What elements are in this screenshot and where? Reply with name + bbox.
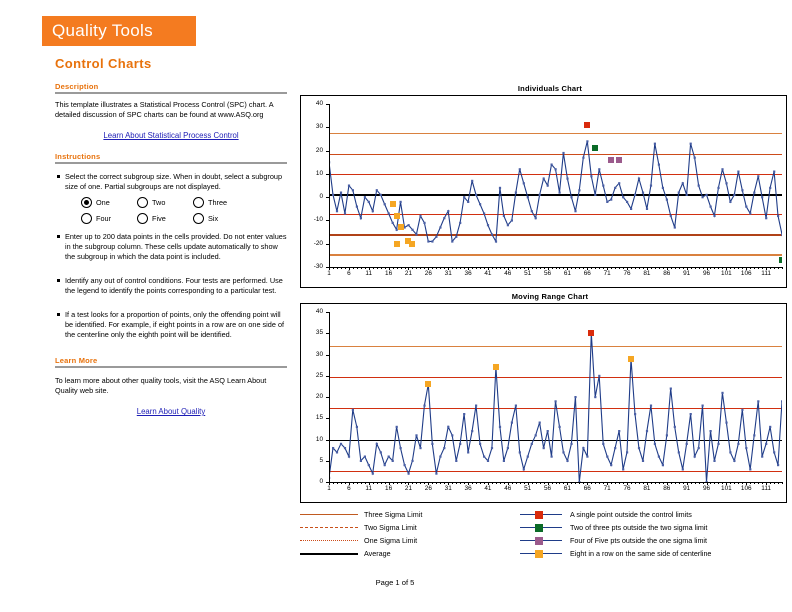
x-tick-mark bbox=[754, 482, 755, 484]
radio-label-five: Five bbox=[152, 214, 166, 223]
radio-icon-five[interactable] bbox=[137, 213, 148, 224]
individuals-chart-title: Individuals Chart bbox=[400, 84, 700, 93]
radio-icon-six[interactable] bbox=[193, 213, 204, 224]
x-tick-mark bbox=[424, 482, 425, 484]
x-tick-mark bbox=[683, 482, 684, 484]
y-tick-label: -10 bbox=[301, 217, 323, 223]
radio-label-four: Four bbox=[96, 214, 111, 223]
x-tick-label: 21 bbox=[398, 486, 418, 492]
description-heading: Description bbox=[55, 82, 287, 91]
instruction-bullet-1: Select the correct subgroup size. When i… bbox=[55, 172, 287, 192]
legend-line-label: Average bbox=[358, 549, 391, 558]
legend-test-label: A single point outside the control limit… bbox=[564, 510, 692, 519]
instruction-text-3: Identify any out of control conditions. … bbox=[65, 276, 287, 296]
legend-test-swatch bbox=[518, 534, 564, 547]
x-tick-mark bbox=[770, 267, 771, 269]
x-tick-label: 71 bbox=[597, 271, 617, 277]
x-tick-mark bbox=[532, 267, 533, 269]
x-tick-mark bbox=[603, 267, 604, 269]
x-tick-mark bbox=[679, 267, 680, 269]
instruction-text-1: Select the correct subgroup size. When i… bbox=[65, 172, 287, 192]
learn-more-body: To learn more about other quality tools,… bbox=[55, 376, 287, 396]
x-tick-mark bbox=[611, 267, 612, 269]
radio-icon-one[interactable] bbox=[81, 197, 92, 208]
y-tick-mark bbox=[326, 376, 329, 377]
x-tick-mark bbox=[778, 482, 779, 484]
x-tick-mark bbox=[333, 267, 334, 269]
legend-test-label: Eight in a row on the same side of cente… bbox=[564, 549, 711, 558]
x-tick-label: 6 bbox=[339, 486, 359, 492]
x-tick-mark bbox=[643, 267, 644, 269]
legend-line-swatch bbox=[300, 521, 358, 534]
bullet-marker-icon bbox=[55, 310, 65, 340]
x-tick-mark bbox=[420, 482, 421, 484]
x-tick-mark bbox=[524, 482, 525, 484]
y-tick-label: 20 bbox=[301, 394, 323, 400]
y-tick-mark bbox=[326, 174, 329, 175]
legend-test-label: Four of Five pts outside the one sigma l… bbox=[564, 536, 707, 545]
x-tick-mark bbox=[456, 482, 457, 484]
legend-line-swatch bbox=[300, 547, 358, 560]
x-tick-mark bbox=[496, 267, 497, 269]
x-tick-label: 26 bbox=[418, 486, 438, 492]
y-tick-label: 30 bbox=[301, 352, 323, 358]
legend-test-row: Two of three pts outside the two sigma l… bbox=[518, 521, 786, 534]
x-tick-mark bbox=[703, 267, 704, 269]
x-tick-mark bbox=[714, 482, 715, 484]
y-tick-mark bbox=[326, 440, 329, 441]
subgroup-row-1: One Two Three bbox=[81, 197, 287, 208]
legend-test-markers: A single point outside the control limit… bbox=[518, 508, 786, 560]
legend-line-row: One Sigma Limit bbox=[300, 534, 510, 547]
y-tick-mark bbox=[326, 333, 329, 334]
radio-label-one: One bbox=[96, 198, 110, 207]
x-tick-mark bbox=[639, 482, 640, 484]
x-tick-label: 56 bbox=[538, 271, 558, 277]
x-tick-mark bbox=[663, 267, 664, 269]
y-tick-label: -20 bbox=[301, 241, 323, 247]
y-tick-label: -30 bbox=[301, 264, 323, 270]
brand-label: Quality Tools bbox=[52, 21, 153, 41]
moving-range-chart: 0510152025303540161116212631364146515661… bbox=[300, 303, 787, 503]
bullet-marker-icon bbox=[55, 172, 65, 192]
learn-about-quality-link[interactable]: Learn About Quality bbox=[55, 407, 287, 416]
x-tick-mark bbox=[599, 482, 600, 484]
x-tick-mark bbox=[722, 267, 723, 269]
flagged-point-marker bbox=[425, 381, 431, 387]
y-tick-label: 15 bbox=[301, 415, 323, 421]
x-tick-mark bbox=[337, 482, 338, 484]
x-tick-mark bbox=[774, 267, 775, 269]
flagged-point-marker bbox=[779, 257, 782, 263]
page-title: Control Charts bbox=[55, 56, 152, 71]
x-tick-mark bbox=[492, 267, 493, 269]
radio-label-three: Three bbox=[208, 198, 227, 207]
x-tick-mark bbox=[365, 482, 366, 484]
legend-line-swatch bbox=[300, 508, 358, 521]
x-tick-mark bbox=[401, 267, 402, 269]
y-tick-mark bbox=[326, 127, 329, 128]
x-tick-mark bbox=[659, 267, 660, 269]
x-tick-mark bbox=[623, 267, 624, 269]
x-tick-mark bbox=[393, 482, 394, 484]
x-tick-mark bbox=[540, 482, 541, 484]
x-tick-label: 46 bbox=[498, 271, 518, 277]
x-tick-mark bbox=[460, 482, 461, 484]
learn-more-rule bbox=[55, 366, 287, 368]
x-tick-mark bbox=[432, 267, 433, 269]
x-tick-mark bbox=[480, 482, 481, 484]
legend-limit-lines: Three Sigma LimitTwo Sigma LimitOne Sigm… bbox=[300, 508, 510, 560]
x-tick-mark bbox=[738, 482, 739, 484]
x-tick-mark bbox=[734, 267, 735, 269]
x-tick-mark bbox=[615, 482, 616, 484]
y-tick-label: 35 bbox=[301, 330, 323, 336]
y-tick-mark bbox=[326, 461, 329, 462]
x-tick-mark bbox=[361, 482, 362, 484]
x-tick-mark bbox=[639, 267, 640, 269]
subgroup-size-radio-group[interactable]: One Two Three Four Five bbox=[81, 197, 287, 224]
radio-icon-two[interactable] bbox=[137, 197, 148, 208]
legend-line-label: One Sigma Limit bbox=[358, 536, 417, 545]
x-tick-mark bbox=[452, 267, 453, 269]
y-tick-label: 40 bbox=[301, 309, 323, 315]
radio-option-six[interactable]: Six bbox=[193, 213, 249, 224]
x-tick-mark bbox=[671, 267, 672, 269]
x-tick-mark bbox=[671, 482, 672, 484]
instruction-bullet-4: If a test looks for a proportion of poin… bbox=[55, 310, 287, 340]
individuals-chart-plot: -30-20-100102030401611162126313641465156… bbox=[301, 96, 786, 287]
x-tick-mark bbox=[377, 482, 378, 484]
x-tick-mark bbox=[500, 482, 501, 484]
x-tick-mark bbox=[559, 482, 560, 484]
x-tick-mark bbox=[675, 267, 676, 269]
x-tick-mark bbox=[651, 267, 652, 269]
chart0-inner-y-axis bbox=[329, 104, 330, 267]
flagged-point-marker bbox=[398, 224, 404, 230]
x-tick-mark bbox=[357, 482, 358, 484]
legend-test-label: Two of three pts outside the two sigma l… bbox=[564, 523, 707, 532]
legend-line-swatch bbox=[300, 534, 358, 547]
flagged-point-marker bbox=[409, 241, 415, 247]
x-tick-mark bbox=[385, 482, 386, 484]
flagged-point-marker bbox=[616, 157, 622, 163]
x-tick-mark bbox=[476, 267, 477, 269]
y-tick-label: 30 bbox=[301, 124, 323, 130]
instruction-text-2: Enter up to 200 data points in the cells… bbox=[65, 232, 287, 262]
legend-test-swatch bbox=[518, 508, 564, 521]
x-tick-mark bbox=[520, 482, 521, 484]
x-tick-label: 41 bbox=[478, 271, 498, 277]
moving-range-chart-plot: 0510152025303540161116212631364146515661… bbox=[301, 304, 786, 502]
x-tick-mark bbox=[718, 267, 719, 269]
legend-test-row: A single point outside the control limit… bbox=[518, 508, 786, 521]
chart1-inner-series-svg bbox=[329, 312, 782, 482]
instruction-text-4: If a test looks for a proportion of poin… bbox=[65, 310, 287, 340]
x-tick-mark bbox=[377, 267, 378, 269]
x-tick-mark bbox=[381, 482, 382, 484]
x-tick-mark bbox=[559, 267, 560, 269]
x-tick-mark bbox=[397, 267, 398, 269]
x-tick-mark bbox=[774, 482, 775, 484]
x-tick-mark bbox=[460, 267, 461, 269]
x-tick-label: 51 bbox=[518, 486, 538, 492]
x-tick-mark bbox=[695, 267, 696, 269]
x-tick-mark bbox=[436, 267, 437, 269]
x-tick-mark bbox=[516, 267, 517, 269]
x-tick-mark bbox=[436, 482, 437, 484]
x-tick-label: 111 bbox=[756, 486, 776, 492]
x-tick-mark bbox=[679, 482, 680, 484]
y-tick-mark bbox=[326, 244, 329, 245]
x-tick-label: 56 bbox=[538, 486, 558, 492]
instruction-bullet-2: Enter up to 200 data points in the cells… bbox=[55, 232, 287, 262]
legend-line-label: Two Sigma Limit bbox=[358, 523, 417, 532]
x-tick-mark bbox=[337, 267, 338, 269]
x-tick-mark bbox=[563, 267, 564, 269]
y-tick-mark bbox=[326, 312, 329, 313]
x-tick-label: 76 bbox=[617, 486, 637, 492]
x-tick-mark bbox=[456, 267, 457, 269]
x-tick-mark bbox=[643, 482, 644, 484]
chart0-inner-plot-area bbox=[329, 104, 782, 267]
x-tick-mark bbox=[496, 482, 497, 484]
x-tick-mark bbox=[575, 482, 576, 484]
radio-icon-four[interactable] bbox=[81, 213, 92, 224]
x-tick-mark bbox=[714, 267, 715, 269]
x-tick-mark bbox=[401, 482, 402, 484]
x-tick-label: 91 bbox=[677, 486, 697, 492]
x-tick-mark bbox=[520, 267, 521, 269]
x-tick-mark bbox=[691, 482, 692, 484]
x-tick-mark bbox=[416, 482, 417, 484]
x-tick-mark bbox=[635, 482, 636, 484]
x-tick-mark bbox=[480, 267, 481, 269]
radio-option-two[interactable]: Two bbox=[137, 197, 193, 208]
x-tick-mark bbox=[532, 482, 533, 484]
legend-line-row: Average bbox=[300, 547, 510, 560]
x-tick-mark bbox=[623, 482, 624, 484]
y-tick-label: 5 bbox=[301, 458, 323, 464]
x-tick-mark bbox=[631, 482, 632, 484]
x-tick-mark bbox=[595, 482, 596, 484]
x-tick-mark bbox=[683, 267, 684, 269]
x-tick-mark bbox=[381, 267, 382, 269]
x-tick-label: 86 bbox=[657, 486, 677, 492]
x-tick-mark bbox=[484, 482, 485, 484]
x-tick-mark bbox=[536, 267, 537, 269]
x-tick-mark bbox=[655, 482, 656, 484]
instruction-bullet-3: Identify any out of control conditions. … bbox=[55, 276, 287, 296]
x-tick-label: 76 bbox=[617, 271, 637, 277]
x-tick-mark bbox=[770, 482, 771, 484]
x-tick-label: 86 bbox=[657, 271, 677, 277]
x-tick-label: 11 bbox=[359, 271, 379, 277]
x-tick-mark bbox=[611, 482, 612, 484]
x-tick-mark bbox=[385, 267, 386, 269]
x-tick-mark bbox=[782, 482, 783, 484]
x-tick-mark bbox=[758, 267, 759, 269]
radio-label-two: Two bbox=[152, 198, 165, 207]
x-tick-mark bbox=[691, 267, 692, 269]
x-tick-mark bbox=[353, 482, 354, 484]
x-tick-label: 16 bbox=[379, 271, 399, 277]
y-tick-mark bbox=[326, 104, 329, 105]
x-tick-mark bbox=[476, 482, 477, 484]
x-tick-mark bbox=[699, 482, 700, 484]
x-tick-mark bbox=[444, 482, 445, 484]
x-tick-label: 26 bbox=[418, 271, 438, 277]
x-tick-mark bbox=[492, 482, 493, 484]
x-tick-mark bbox=[750, 267, 751, 269]
x-tick-mark bbox=[699, 267, 700, 269]
x-tick-mark bbox=[591, 267, 592, 269]
x-tick-mark bbox=[583, 482, 584, 484]
x-tick-mark bbox=[762, 482, 763, 484]
spc-template-page: Quality Tools Control Charts Description… bbox=[0, 0, 792, 612]
x-tick-mark bbox=[651, 482, 652, 484]
x-tick-mark bbox=[579, 482, 580, 484]
instructions-heading: Instructions bbox=[55, 152, 287, 161]
x-tick-label: 31 bbox=[438, 486, 458, 492]
x-tick-mark bbox=[345, 267, 346, 269]
chart1-inner-plot-area bbox=[329, 312, 782, 482]
x-tick-mark bbox=[440, 482, 441, 484]
x-tick-mark bbox=[730, 267, 731, 269]
legend-line-row: Two Sigma Limit bbox=[300, 521, 510, 534]
x-tick-mark bbox=[345, 482, 346, 484]
radio-option-five[interactable]: Five bbox=[137, 213, 193, 224]
moving-range-chart-title: Moving Range Chart bbox=[400, 292, 700, 301]
flagged-point-marker bbox=[588, 330, 594, 336]
y-tick-label: 0 bbox=[301, 479, 323, 485]
x-tick-mark bbox=[464, 267, 465, 269]
learn-about-spc-link[interactable]: Learn About Statistical Process Control bbox=[55, 131, 287, 140]
x-tick-mark bbox=[333, 482, 334, 484]
x-tick-mark bbox=[563, 482, 564, 484]
x-tick-label: 61 bbox=[557, 271, 577, 277]
x-tick-mark bbox=[412, 267, 413, 269]
x-tick-mark bbox=[540, 267, 541, 269]
x-tick-label: 101 bbox=[716, 271, 736, 277]
chart-legend: Three Sigma LimitTwo Sigma LimitOne Sigm… bbox=[300, 508, 786, 564]
bullet-marker-icon bbox=[55, 276, 65, 296]
x-tick-label: 1 bbox=[319, 271, 339, 277]
x-tick-label: 66 bbox=[577, 271, 597, 277]
y-tick-label: 0 bbox=[301, 194, 323, 200]
flagged-point-marker bbox=[390, 201, 396, 207]
x-tick-mark bbox=[484, 267, 485, 269]
radio-icon-three[interactable] bbox=[193, 197, 204, 208]
x-tick-mark bbox=[500, 267, 501, 269]
x-tick-mark bbox=[365, 267, 366, 269]
x-tick-label: 91 bbox=[677, 271, 697, 277]
x-tick-label: 81 bbox=[637, 271, 657, 277]
subgroup-row-2: Four Five Six bbox=[81, 213, 287, 224]
x-tick-mark bbox=[579, 267, 580, 269]
x-tick-mark bbox=[635, 267, 636, 269]
x-tick-mark bbox=[361, 267, 362, 269]
x-tick-mark bbox=[472, 267, 473, 269]
x-tick-mark bbox=[397, 482, 398, 484]
x-tick-label: 6 bbox=[339, 271, 359, 277]
legend-test-swatch bbox=[518, 547, 564, 560]
x-tick-mark bbox=[571, 482, 572, 484]
x-tick-label: 71 bbox=[597, 486, 617, 492]
x-tick-label: 1 bbox=[319, 486, 339, 492]
page-footer: Page 1 of 5 bbox=[320, 578, 470, 587]
radio-option-three[interactable]: Three bbox=[193, 197, 249, 208]
x-tick-mark bbox=[695, 482, 696, 484]
learn-more-heading: Learn More bbox=[55, 356, 287, 365]
x-tick-mark bbox=[619, 482, 620, 484]
x-tick-label: 46 bbox=[498, 486, 518, 492]
x-tick-mark bbox=[675, 482, 676, 484]
legend-test-row: Eight in a row on the same side of cente… bbox=[518, 547, 786, 560]
x-tick-mark bbox=[504, 267, 505, 269]
y-tick-mark bbox=[326, 220, 329, 221]
y-tick-mark bbox=[326, 418, 329, 419]
x-tick-mark bbox=[544, 267, 545, 269]
x-tick-mark bbox=[552, 482, 553, 484]
x-tick-mark bbox=[734, 482, 735, 484]
x-tick-mark bbox=[619, 267, 620, 269]
x-tick-mark bbox=[341, 267, 342, 269]
x-tick-label: 96 bbox=[697, 271, 717, 277]
x-tick-mark bbox=[432, 482, 433, 484]
left-info-column: Description This template illustrates a … bbox=[55, 82, 287, 420]
x-tick-mark bbox=[524, 267, 525, 269]
individuals-chart: -30-20-100102030401611162126313641465156… bbox=[300, 95, 787, 288]
x-tick-label: 51 bbox=[518, 271, 538, 277]
x-tick-label: 36 bbox=[458, 271, 478, 277]
x-tick-mark bbox=[452, 482, 453, 484]
y-tick-label: 25 bbox=[301, 373, 323, 379]
y-tick-mark bbox=[326, 355, 329, 356]
x-tick-label: 21 bbox=[398, 271, 418, 277]
radio-label-six: Six bbox=[208, 214, 218, 223]
x-tick-mark bbox=[393, 267, 394, 269]
x-tick-mark bbox=[710, 482, 711, 484]
x-tick-mark bbox=[405, 267, 406, 269]
flagged-point-marker bbox=[592, 145, 598, 151]
radio-option-one[interactable]: One bbox=[81, 197, 137, 208]
x-tick-mark bbox=[472, 482, 473, 484]
x-tick-label: 81 bbox=[637, 486, 657, 492]
x-tick-mark bbox=[552, 267, 553, 269]
x-tick-label: 11 bbox=[359, 486, 379, 492]
x-tick-mark bbox=[591, 482, 592, 484]
x-tick-mark bbox=[782, 267, 783, 269]
x-tick-mark bbox=[595, 267, 596, 269]
x-tick-label: 41 bbox=[478, 486, 498, 492]
x-tick-mark bbox=[603, 482, 604, 484]
x-tick-mark bbox=[655, 267, 656, 269]
x-tick-mark bbox=[615, 267, 616, 269]
x-tick-mark bbox=[416, 267, 417, 269]
x-tick-mark bbox=[631, 267, 632, 269]
x-tick-label: 31 bbox=[438, 271, 458, 277]
x-tick-mark bbox=[556, 267, 557, 269]
x-tick-mark bbox=[512, 482, 513, 484]
x-tick-mark bbox=[516, 482, 517, 484]
legend-test-row: Four of Five pts outside the one sigma l… bbox=[518, 534, 786, 547]
y-tick-mark bbox=[326, 397, 329, 398]
radio-option-four[interactable]: Four bbox=[81, 213, 137, 224]
x-tick-mark bbox=[440, 267, 441, 269]
legend-line-label: Three Sigma Limit bbox=[358, 510, 422, 519]
x-tick-label: 106 bbox=[736, 486, 756, 492]
